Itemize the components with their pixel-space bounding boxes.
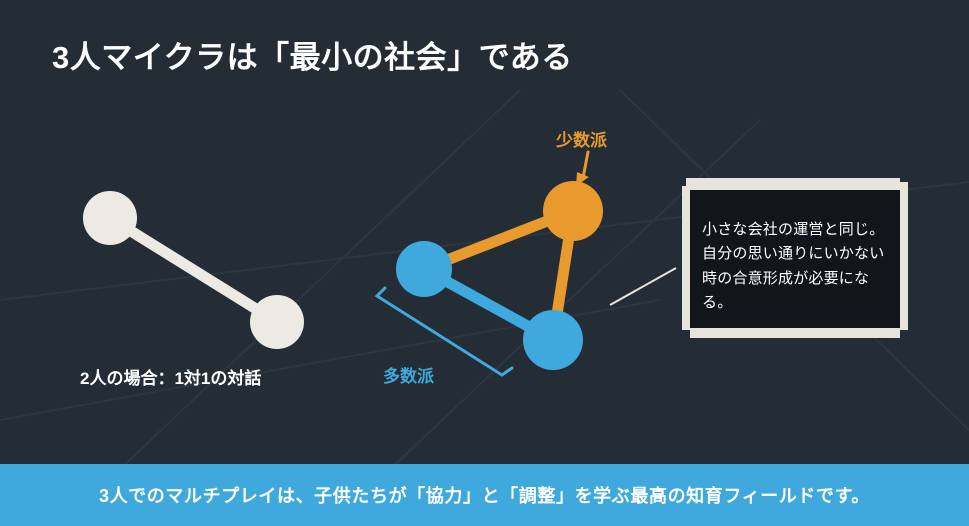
two-person-caption: 2人の場合：1対1の対話: [80, 364, 261, 389]
person-b-node: [250, 295, 304, 349]
majority-label: 多数派: [383, 362, 434, 387]
majority-node-right: [523, 310, 583, 370]
person-a-node: [83, 191, 137, 245]
callout-text: 小さな会社の運営と同じ。自分の思い通りにいかない時の合意形成が必要になる。: [702, 218, 892, 315]
two-person-group: [83, 191, 304, 349]
footer-text: 3人でのマルチプレイは、子供たちが「協力」と「調整」を学ぶ最高の知育フィールドで…: [0, 464, 969, 526]
three-person-group: [396, 181, 603, 370]
minority-label: 少数派: [556, 126, 607, 151]
slide-canvas: 3人マイクラは「最小の社会」である: [0, 0, 969, 526]
callout-leader-line: [610, 268, 676, 305]
edge-person-a-person-b: [110, 218, 277, 322]
majority-node-left: [396, 241, 452, 297]
minority-node: [543, 181, 603, 241]
minority-arrow: [576, 152, 589, 186]
